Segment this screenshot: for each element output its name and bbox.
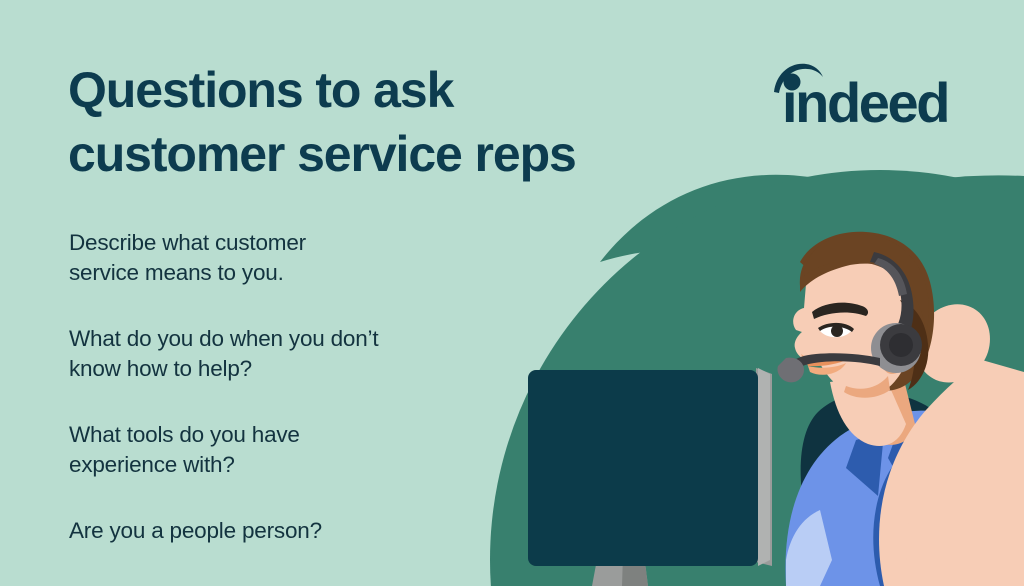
indeed-logo-icon: indeed (766, 58, 951, 128)
question-item-4: Are you a people person? (69, 516, 509, 546)
questions-list: Describe what customer service means to … (69, 228, 509, 545)
indeed-logo: indeed indeed (766, 58, 951, 128)
monitor-screen-back (528, 370, 758, 566)
question-item-3: What tools do you have experience with? (69, 420, 509, 480)
svg-text:indeed: indeed (782, 71, 948, 128)
question-item-2: What do you do when you don’t know how t… (69, 324, 509, 384)
page-title: Questions to ask customer service reps (68, 58, 688, 186)
monitor-bevel (758, 368, 770, 566)
question-item-1: Describe what customer service means to … (69, 228, 509, 288)
slide-canvas: Questions to ask customer service reps D… (0, 0, 1024, 586)
headset-earcup-inner (889, 333, 913, 357)
